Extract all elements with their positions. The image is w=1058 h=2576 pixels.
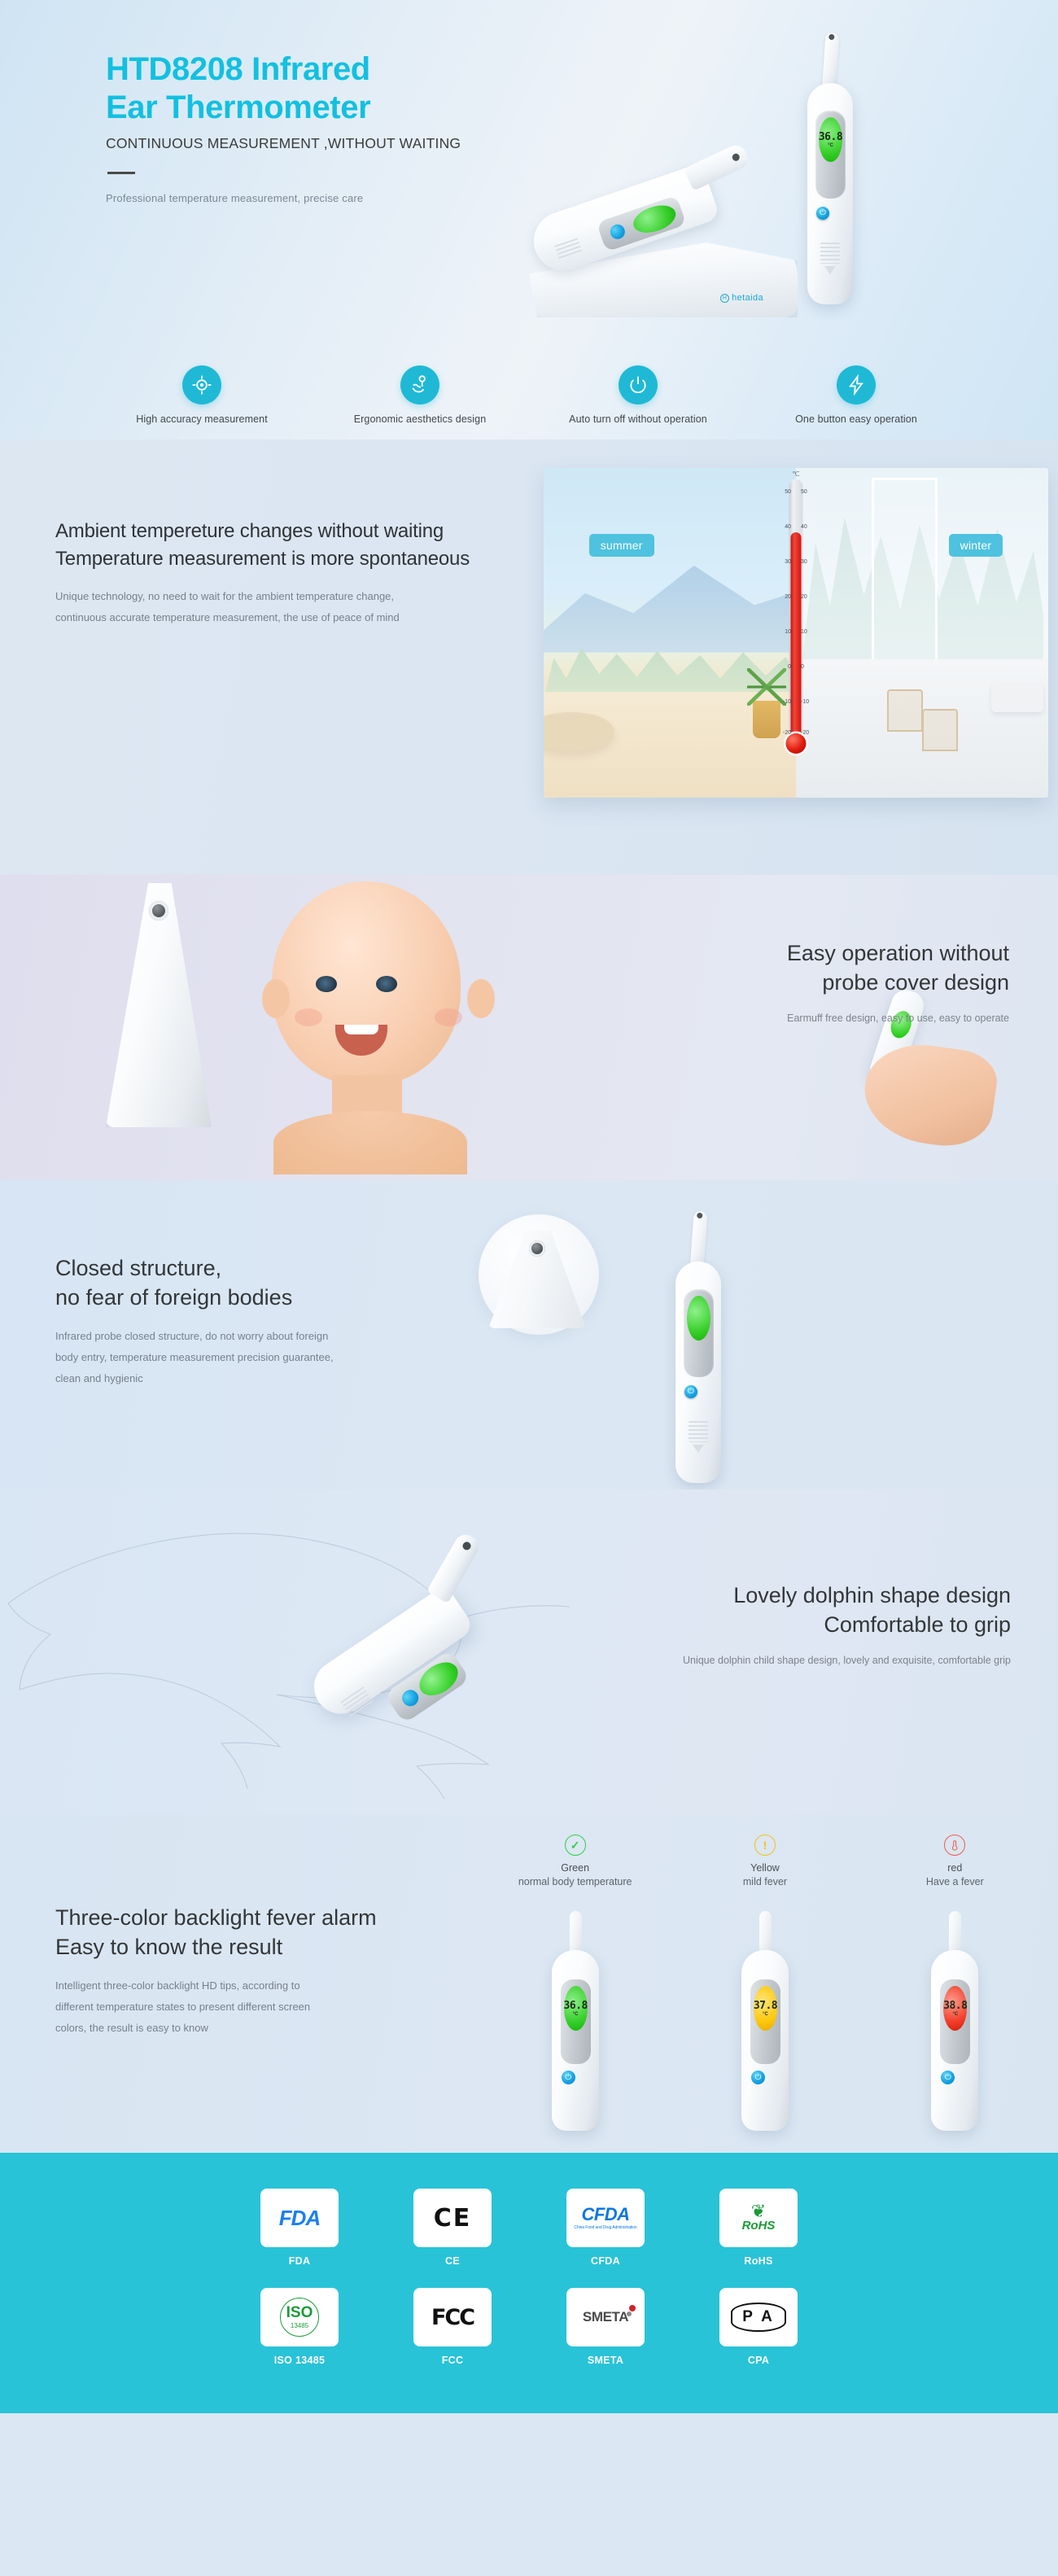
exclamation-circle-icon: !	[754, 1835, 776, 1856]
cert-smeta: SMETA SMETA	[566, 2288, 645, 2366]
probe-closeup-image	[106, 883, 212, 1127]
three-color-body-line1: Intelligent three-color backlight HD tip…	[55, 1975, 495, 1997]
closed-body-line3: clean and hygienic	[55, 1368, 479, 1389]
thermometer-upright: 36.8 °C	[807, 33, 853, 301]
cert-cpa: P A CPA	[719, 2288, 798, 2366]
ce-logo-icon: CE	[434, 2204, 472, 2233]
thermometer-body: 36.8 °C	[552, 1950, 599, 2131]
certifications-section: FDA FDA CE CE CFDA China Food and Drug A…	[0, 2153, 1058, 2413]
feature-label: Auto turn off without operation	[529, 413, 747, 425]
feature-icon-strip: High accuracy measurement Ergonomic aest…	[0, 365, 1058, 425]
tilted-power-button[interactable]	[608, 222, 627, 241]
cert-iso: ISO 13485 ISO 13485	[260, 2288, 339, 2366]
fcc-logo-icon: FCC	[431, 2305, 474, 2330]
grip-texture	[820, 243, 840, 264]
summer-scene: summer	[544, 468, 796, 798]
status-column-red: red Have a fever 38.8 °C	[869, 1820, 1040, 2153]
divider	[107, 172, 135, 174]
closed-heading-line2: no fear of foreign bodies	[55, 1283, 479, 1312]
cert-logo-tile: CE	[413, 2189, 492, 2247]
easy-operation-heading-line2: probe cover design	[602, 968, 1009, 997]
gauge-tick: -10	[783, 699, 791, 705]
dolphin-screen-frame	[384, 1650, 470, 1724]
power-icon	[619, 365, 658, 405]
baby-shoulder	[273, 1111, 467, 1174]
cert-logo-tile: FDA	[260, 2189, 339, 2247]
ambient-heading: Ambient tempereture changes without wait…	[55, 518, 511, 573]
cert-fcc: FCC FCC	[413, 2288, 492, 2366]
gauge-tick: 20	[785, 594, 791, 600]
cert-caption: ISO 13485	[260, 2355, 339, 2366]
closed-body-line2: body entry, temperature measurement prec…	[55, 1347, 479, 1368]
lcd-unit: °C	[573, 2012, 579, 2017]
status-description: mild fever	[680, 1876, 850, 1887]
three-color-heading-line1: Three-color backlight fever alarm	[55, 1903, 495, 1932]
dolphin-shape-section: Lovely dolphin shape design Comfortable …	[0, 1489, 1058, 1815]
feature-label: One button easy operation	[747, 413, 965, 425]
gauge-tick: 10	[785, 629, 791, 635]
thermometer-upright-closed	[675, 1211, 732, 1463]
gauge-tick: -20	[801, 730, 809, 736]
cert-logo-tile: ❦ RoHS	[719, 2189, 798, 2247]
winter-chair	[887, 689, 923, 732]
baby-photo	[244, 881, 513, 1168]
thermometer-green: 36.8 °C	[552, 1911, 599, 2131]
three-color-backlight-section: Three-color backlight fever alarm Easy t…	[0, 1815, 1058, 2153]
winter-badge: winter	[949, 534, 1003, 557]
ambient-copy: Ambient tempereture changes without wait…	[55, 518, 511, 628]
grip-texture	[340, 1686, 373, 1717]
screen-frame: 36.8 °C	[815, 111, 846, 199]
closed-structure-heading: Closed structure, no fear of foreign bod…	[55, 1253, 479, 1313]
grip-texture	[689, 1421, 708, 1442]
lcd-reading: 38.8	[943, 2001, 967, 2011]
lcd-unit: °C	[828, 143, 833, 148]
three-color-body-line3: colors, the result is easy to know	[55, 2018, 495, 2039]
winter-chair	[922, 709, 958, 751]
probe-sensor-hole	[149, 901, 168, 921]
feature-label: High accuracy measurement	[93, 413, 311, 425]
power-button[interactable]	[751, 2071, 765, 2084]
lcd-reading: 36.8	[564, 2001, 588, 2011]
lcd-display: 38.8 °C	[943, 1986, 967, 2031]
hero-product-image: 36.8 °C H hetaida	[521, 8, 1025, 350]
lcd-reading: 36.8	[819, 132, 842, 142]
three-color-body-line2: different temperature states to present …	[55, 1997, 495, 2018]
hero-note: Professional temperature measurement, pr…	[106, 192, 562, 204]
power-button[interactable]	[399, 1686, 422, 1709]
cert-caption: CPA	[719, 2355, 798, 2366]
cert-caption: SMETA	[566, 2355, 645, 2366]
screen-frame: 38.8 °C	[940, 1979, 970, 2064]
tilted-grip	[554, 238, 583, 261]
thermometer-body	[675, 1262, 721, 1483]
baby-cheek-right	[435, 1008, 462, 1026]
dolphin-note: Unique dolphin child shape design, lovel…	[588, 1655, 1011, 1666]
three-color-body: Intelligent three-color backlight HD tip…	[55, 1975, 495, 2039]
status-indicator-group: ✓ Green normal body temperature 36.8 °C	[480, 1820, 1050, 2153]
status-color-name: red	[869, 1861, 1040, 1876]
cert-logo-tile: FCC	[413, 2288, 492, 2346]
page-title: HTD8208 Infrared Ear Thermometer	[106, 50, 562, 127]
lcd-display	[687, 1296, 710, 1340]
gauge-tick: 50	[801, 489, 807, 495]
gauge-tick-labels: 50 50 40 40 30 30 20 20 10 10 0 0 -10 -1…	[772, 479, 820, 798]
dolphin-heading-line1: Lovely dolphin shape design	[588, 1581, 1011, 1610]
lcd-display: 36.8 °C	[819, 117, 842, 162]
brand-mark-icon: H	[720, 294, 729, 303]
rohs-logo-icon: RoHS	[742, 2219, 776, 2233]
feature-item-1: Ergonomic aesthetics design	[311, 365, 529, 425]
product-detail-page: HTD8208 Infrared Ear Thermometer CONTINU…	[0, 0, 1058, 2413]
cert-cfda: CFDA China Food and Drug Administration …	[566, 2189, 645, 2267]
easy-operation-heading: Easy operation without probe cover desig…	[602, 938, 1009, 998]
feature-label: Ergonomic aesthetics design	[311, 413, 529, 425]
ambient-body-line2: continuous accurate temperature measurem…	[55, 607, 511, 628]
power-button[interactable]	[941, 2071, 955, 2084]
gauge-tick: 40	[801, 524, 807, 530]
feature-item-2: Auto turn off without operation	[529, 365, 747, 425]
gauge-tick: -20	[783, 730, 791, 736]
ambient-heading-line1: Ambient tempereture changes without wait…	[55, 518, 511, 545]
closed-structure-section: Closed structure, no fear of foreign bod…	[0, 1180, 1058, 1489]
charging-cradle: H hetaida	[529, 167, 806, 317]
easy-operation-heading-line1: Easy operation without	[602, 938, 1009, 968]
brand-name: hetaida	[732, 293, 763, 303]
ambient-temperature-section: Ambient tempereture changes without wait…	[0, 440, 1058, 875]
certification-row-1: FDA FDA CE CE CFDA China Food and Drug A…	[260, 2189, 798, 2267]
gauge-tick: 50	[785, 489, 791, 495]
winter-sofa	[991, 683, 1043, 712]
screen-frame	[684, 1289, 714, 1377]
status-description: Have a fever	[869, 1876, 1040, 1887]
three-color-heading-line2: Easy to know the result	[55, 1932, 495, 1962]
cert-caption: CE	[413, 2255, 492, 2267]
smeta-logo-icon: SMETA	[583, 2309, 628, 2325]
thermometer-body: 36.8 °C	[807, 83, 853, 304]
three-color-heading: Three-color backlight fever alarm Easy t…	[55, 1903, 495, 1962]
thermometer-red: 38.8 °C	[931, 1911, 978, 2131]
status-column-yellow: ! Yellow mild fever 37.8 °C	[680, 1820, 850, 2153]
fda-logo-icon: FDA	[279, 2206, 320, 2231]
lcd-unit: °C	[952, 2012, 958, 2017]
hero-section: HTD8208 Infrared Ear Thermometer CONTINU…	[0, 0, 1058, 440]
baby-eye-left	[316, 976, 337, 992]
lcd-display	[413, 1655, 464, 1702]
gauge-tick: 10	[801, 629, 807, 635]
power-button[interactable]	[816, 207, 829, 220]
ambient-heading-line2: Temperature measurement is more spontane…	[55, 545, 511, 573]
gauge-tick: 30	[785, 559, 791, 565]
season-comparison-image: summer winter ℃ 50 50 40	[544, 468, 1048, 798]
hero-subtitle: CONTINUOUS MEASUREMENT ,WITHOUT WAITING	[106, 135, 562, 152]
smeta-logo-text: SMETA	[583, 2309, 628, 2325]
closed-structure-copy: Closed structure, no fear of foreign bod…	[55, 1253, 479, 1389]
gauge-tick: -10	[801, 699, 809, 705]
iso-ring-icon: ISO 13485	[280, 2298, 319, 2337]
cert-caption: RoHS	[719, 2255, 798, 2267]
gauge-tick: 40	[785, 524, 791, 530]
cert-caption: FCC	[413, 2355, 492, 2366]
lcd-reading: 37.8	[754, 2001, 777, 2011]
power-button[interactable]	[684, 1385, 697, 1398]
summer-badge: summer	[589, 534, 654, 557]
power-button[interactable]	[562, 2071, 575, 2084]
baby-eye-right	[376, 976, 397, 992]
gauge-tick: 30	[801, 559, 807, 565]
closed-structure-body: Infrared probe closed structure, do not …	[55, 1326, 479, 1389]
status-description: normal body temperature	[490, 1876, 661, 1887]
brand-logo: H hetaida	[720, 293, 763, 303]
tilted-probe-tip	[684, 142, 751, 190]
check-circle-icon: ✓	[565, 1835, 586, 1856]
easy-operation-section: Easy operation without probe cover desig…	[0, 875, 1058, 1180]
cert-logo-tile: SMETA	[566, 2288, 645, 2346]
thermometer-body: 38.8 °C	[931, 1950, 978, 2131]
hero-title-line2: Ear Thermometer	[106, 89, 562, 127]
closed-heading-line1: Closed structure,	[55, 1253, 479, 1283]
iso-standard-number: 13485	[291, 2322, 308, 2329]
three-color-copy: Three-color backlight fever alarm Easy t…	[55, 1903, 495, 2039]
thermometer-yellow: 37.8 °C	[741, 1911, 789, 2131]
leaf-icon: ❦	[751, 2203, 766, 2220]
feature-item-3: One button easy operation	[747, 365, 965, 425]
dolphin-copy: Lovely dolphin shape design Comfortable …	[588, 1581, 1011, 1666]
gauge-unit-label: ℃	[793, 470, 800, 478]
screen-frame: 36.8 °C	[561, 1979, 591, 2064]
hand-hold-icon	[400, 365, 439, 405]
hero-title-line1: HTD8208 Infrared	[106, 50, 562, 89]
thermometer-gauge: ℃ 50 50 40 40 30 30 20 20 10 10 0	[772, 468, 820, 798]
smeta-dot-icon	[629, 2305, 636, 2311]
target-icon	[182, 365, 221, 405]
lightning-icon	[837, 365, 876, 405]
probe-tip	[426, 1531, 483, 1603]
tilted-lcd	[630, 200, 680, 238]
cert-logo-tile: CFDA China Food and Drug Administration	[566, 2189, 645, 2247]
status-column-green: ✓ Green normal body temperature 36.8 °C	[490, 1820, 661, 2153]
ambient-body-line1: Unique technology, no need to wait for t…	[55, 586, 511, 607]
baby-cheek-left	[295, 1008, 322, 1026]
easy-operation-note: Earmuff free design, easy to use, easy t…	[602, 1012, 1009, 1024]
cfda-logo-subtitle: China Food and Drug Administration	[574, 2225, 636, 2230]
lcd-display: 36.8 °C	[564, 1986, 588, 2031]
cert-logo-tile: ISO 13485	[260, 2288, 339, 2346]
ambient-body: Unique technology, no need to wait for t…	[55, 586, 511, 628]
status-color-name: Green	[490, 1861, 661, 1876]
probe-sensor-hole	[529, 1240, 545, 1257]
closed-body-line1: Infrared probe closed structure, do not …	[55, 1326, 479, 1347]
gauge-tick: 20	[801, 594, 807, 600]
gauge-tick: 0	[801, 664, 804, 670]
iso-logo-icon: ISO	[286, 2305, 313, 2320]
thermometer-circle-icon	[944, 1835, 965, 1856]
dolphin-heading: Lovely dolphin shape design Comfortable …	[588, 1581, 1011, 1640]
cfda-logo-icon: CFDA	[581, 2206, 629, 2224]
dolphin-device-body	[304, 1584, 475, 1724]
cert-logo-tile: P A	[719, 2288, 798, 2346]
baby-ear-left	[262, 979, 290, 1018]
cert-ce: CE CE	[413, 2189, 492, 2267]
screen-frame: 37.8 °C	[750, 1979, 780, 2064]
cert-fda: FDA FDA	[260, 2189, 339, 2267]
thermometer-body: 37.8 °C	[741, 1950, 789, 2131]
gauge-tick: 0	[788, 664, 791, 670]
hero-copy: HTD8208 Infrared Ear Thermometer CONTINU…	[106, 50, 562, 204]
lcd-display: 37.8 °C	[754, 1986, 777, 2031]
cert-rohs: ❦ RoHS RoHS	[719, 2189, 798, 2267]
pa-logo-icon: P A	[731, 2303, 786, 2332]
winter-scene: winter	[796, 468, 1048, 798]
lcd-unit: °C	[763, 2012, 768, 2017]
smeta-dot-secondary-icon	[627, 2311, 632, 2316]
cert-caption: FDA	[260, 2255, 339, 2267]
glass-door	[872, 478, 938, 682]
baby-ear-right	[467, 979, 495, 1018]
status-color-name: Yellow	[680, 1861, 850, 1876]
easy-operation-copy: Easy operation without probe cover desig…	[602, 938, 1009, 1024]
certification-row-2: ISO 13485 ISO 13485 FCC FCC SMETA	[260, 2288, 798, 2366]
cert-caption: CFDA	[566, 2255, 645, 2267]
feature-item-0: High accuracy measurement	[93, 365, 311, 425]
tilted-screen-frame	[597, 195, 687, 252]
dolphin-heading-line2: Comfortable to grip	[588, 1610, 1011, 1639]
